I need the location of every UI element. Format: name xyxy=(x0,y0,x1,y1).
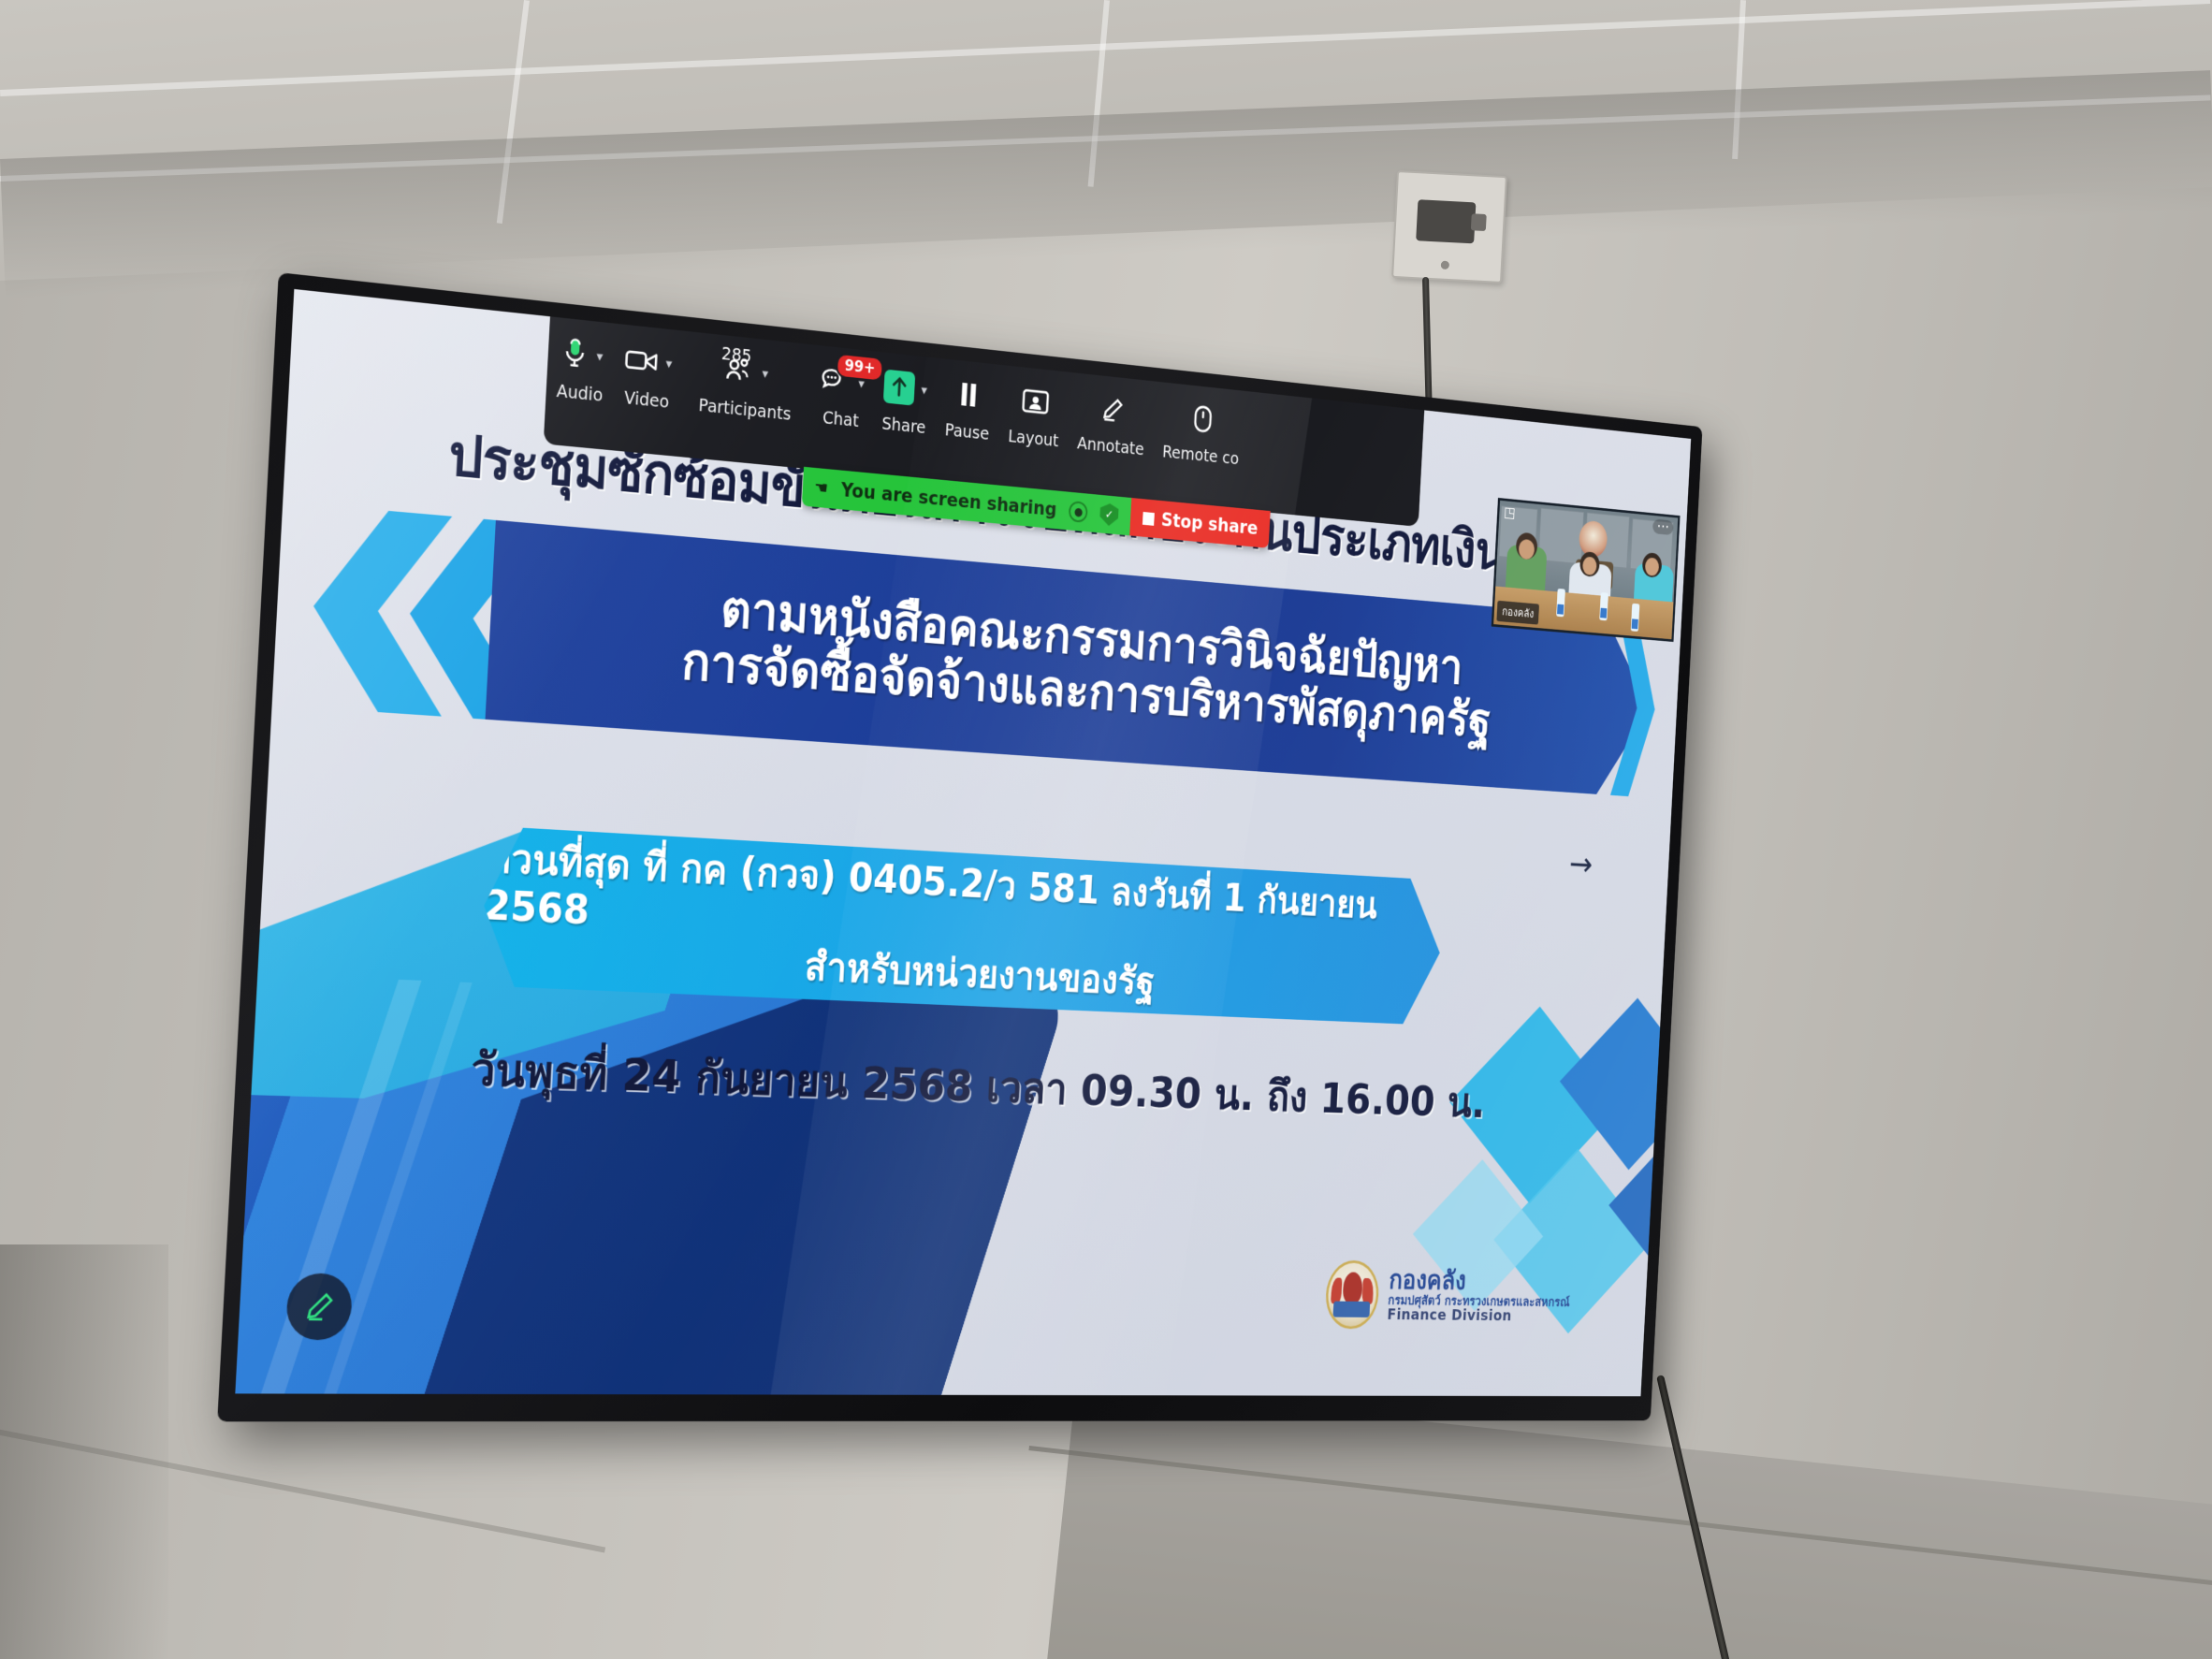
participants-count-badge: 285 xyxy=(720,344,751,367)
organization-logo: กองคลัง กรมปศุสัตว์ กระทรวงเกษตรและสหกรณ… xyxy=(1324,1260,1572,1332)
pencil-annotate-icon xyxy=(301,1288,337,1324)
water-bottle xyxy=(1599,592,1608,620)
stop-share-label: Stop share xyxy=(1161,509,1259,538)
record-dot-icon[interactable]: ● xyxy=(1069,501,1088,523)
toolbar-spacer xyxy=(683,342,691,342)
mouse-icon xyxy=(1192,403,1214,434)
toolbar-label-share: Share xyxy=(881,414,926,437)
toolbar-label-audio: Audio xyxy=(556,381,604,405)
microphone-icon xyxy=(560,334,590,373)
logo-english: Finance Division xyxy=(1387,1307,1569,1325)
chevron-down-icon[interactable]: ▾ xyxy=(665,357,673,371)
more-dots-icon[interactable]: ⋯ xyxy=(1652,518,1674,535)
self-view-name-label: กองคลัง xyxy=(1496,601,1539,625)
toolbar-spacer xyxy=(804,355,812,356)
toolbar-button-remote-control[interactable]: Remote co xyxy=(1153,392,1251,470)
outlet-screw xyxy=(1441,261,1449,269)
next-slide-arrow-icon[interactable]: → xyxy=(1568,845,1594,884)
toolbar-label-chat: Chat xyxy=(822,408,860,431)
wall-power-outlet xyxy=(1391,170,1507,284)
layout-small-icon[interactable]: ◳ xyxy=(1504,504,1516,522)
toolbar-button-audio[interactable]: ▾ Audio xyxy=(546,327,616,407)
logo-text-block: กองคลัง กรมปศุสัตว์ กระทรวงเกษตรและสหกรณ… xyxy=(1387,1267,1571,1325)
toolbar-label-remote-control: Remote co xyxy=(1162,443,1240,469)
toolbar-button-participants[interactable]: 285 ▾ Participants xyxy=(688,342,804,426)
self-view-video-thumbnail[interactable]: ◳ ⋯ กองคลัง xyxy=(1492,498,1681,642)
garuda-emblem-icon xyxy=(1324,1260,1380,1330)
chevron-down-icon[interactable]: ▾ xyxy=(921,384,927,398)
chevron-down-icon[interactable]: ▾ xyxy=(762,367,768,381)
pointer-hand-icon: ☚ xyxy=(814,477,829,498)
pencil-icon xyxy=(1099,395,1126,425)
shield-check-icon[interactable]: ✓ xyxy=(1099,502,1119,527)
toolbar-button-annotate[interactable]: Annotate xyxy=(1068,383,1157,460)
emblem-wing-left xyxy=(1331,1278,1343,1303)
toolbar-label-video: Video xyxy=(623,388,669,413)
wall-mounted-tv: ประชุมซักซ้อมขั้นตอนการรับหลักประกันประเ… xyxy=(217,272,1702,1421)
layout-icon xyxy=(1021,386,1051,417)
tv-screen: ประชุมซักซ้อมขั้นตอนการรับหลักประกันประเ… xyxy=(235,289,1691,1396)
toolbar-label-pause: Pause xyxy=(944,420,989,444)
up-arrow-glyph xyxy=(890,376,909,399)
socket-icon xyxy=(1416,199,1476,243)
emblem-wing-right xyxy=(1362,1278,1375,1303)
water-bottle xyxy=(1631,604,1640,632)
water-bottle xyxy=(1556,589,1565,617)
share-up-arrow-icon xyxy=(883,370,916,406)
toolbar-button-video[interactable]: ▾ Video xyxy=(613,334,684,413)
toolbar-label-participants: Participants xyxy=(698,396,792,425)
pause-icon xyxy=(958,380,981,410)
toolbar-button-layout[interactable]: Layout xyxy=(998,375,1071,452)
toolbar-button-share[interactable]: ▾ Share xyxy=(871,362,939,439)
room-photo-scene: ประชุมซักซ้อมขั้นตอนการรับหลักประกันประเ… xyxy=(0,0,2212,1659)
chevron-down-icon[interactable]: ▾ xyxy=(596,349,604,363)
wall-corner-shadow xyxy=(0,1244,168,1659)
toolbar-button-pause[interactable]: Pause xyxy=(935,369,1002,445)
toolbar-label-annotate: Annotate xyxy=(1077,434,1145,459)
stop-square-icon xyxy=(1142,512,1155,526)
toolbar-button-chat[interactable]: 99+ ▾ Chat xyxy=(808,356,875,432)
toolbar-label-layout: Layout xyxy=(1008,427,1059,451)
camera-icon xyxy=(624,346,660,375)
